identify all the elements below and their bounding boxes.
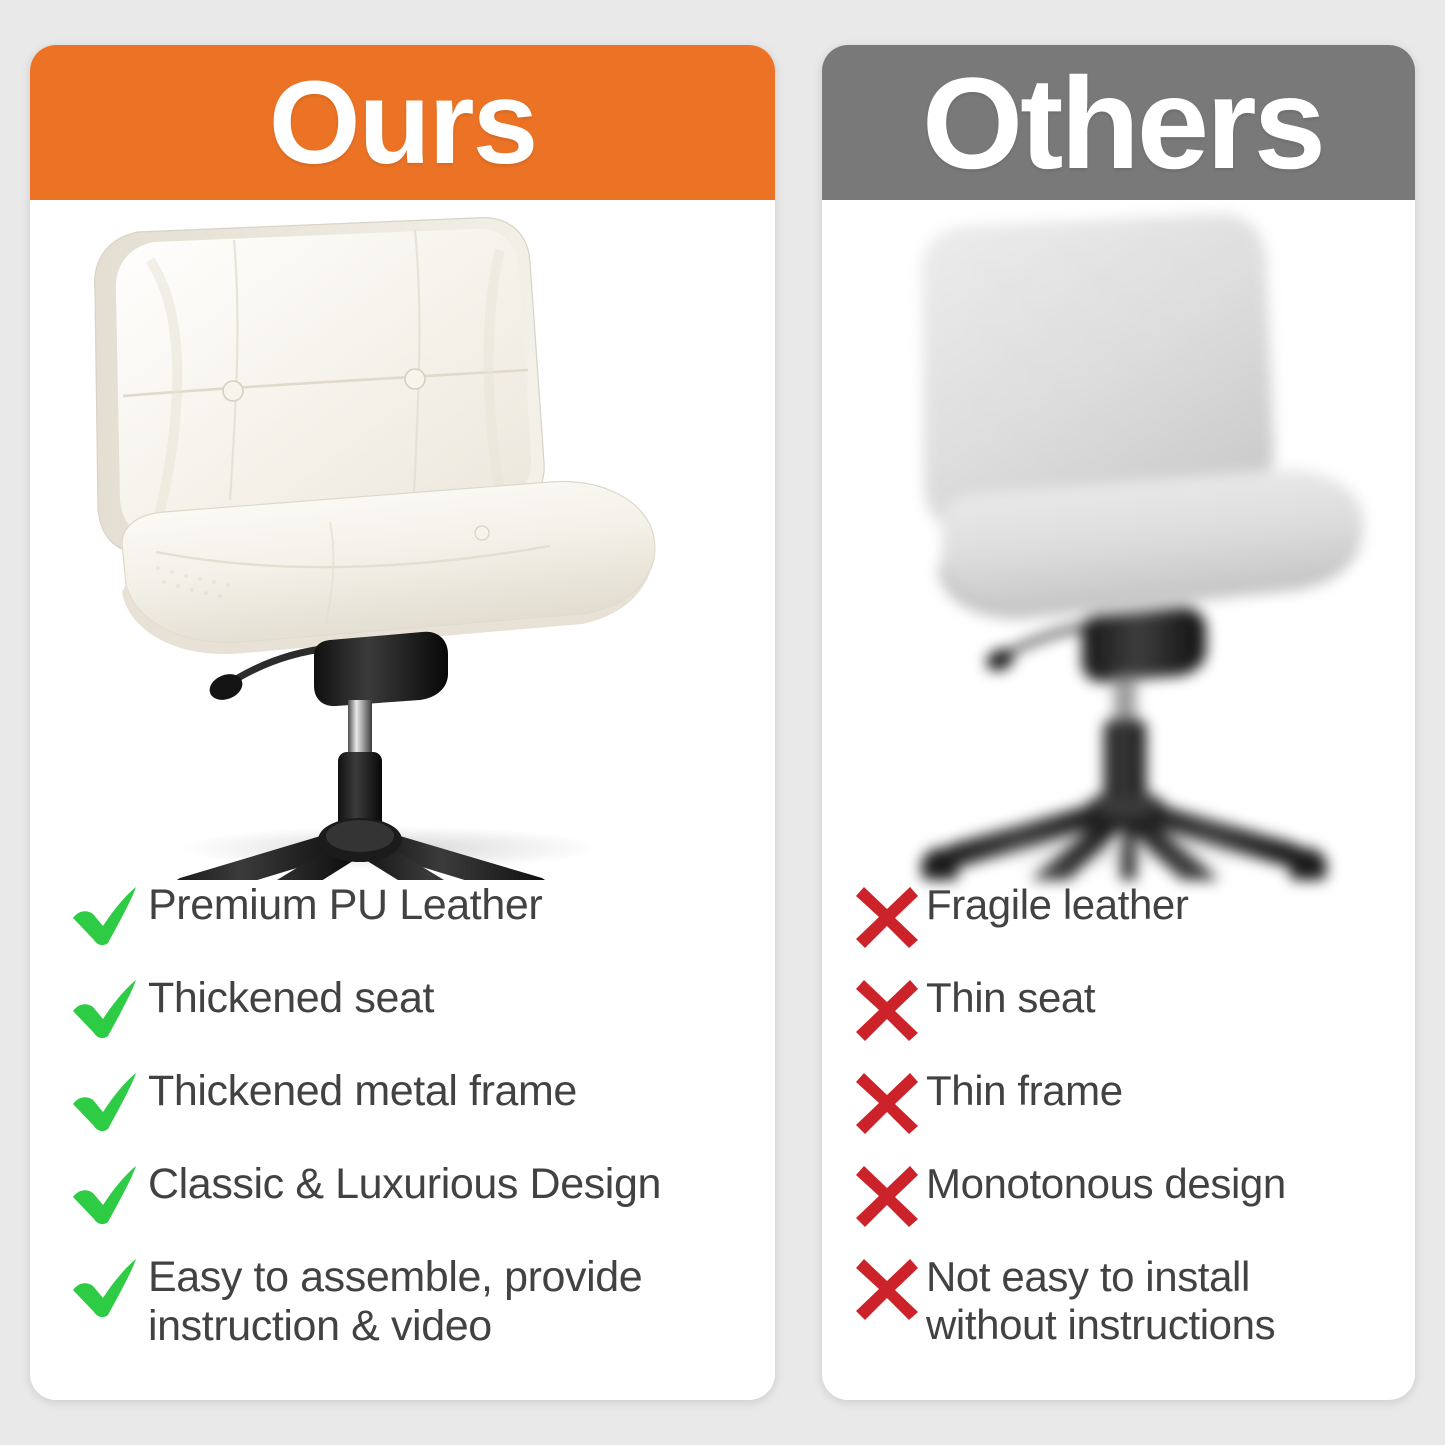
feature-label: Easy to assemble, provide instruction & … [148, 1247, 749, 1351]
ours-product-photo [30, 200, 775, 880]
ours-feature-list: Premium PU Leather Thickened seat Thicke… [30, 875, 775, 1397]
ours-card: Ours [30, 45, 775, 1400]
others-card: Others [822, 45, 1415, 1400]
feature-row: Easy to assemble, provide instruction & … [64, 1247, 749, 1397]
feature-row: Premium PU Leather [64, 875, 749, 968]
cross-mark-icon [848, 1061, 926, 1135]
cross-mark-icon [848, 875, 926, 949]
feature-row: Fragile leather [848, 875, 1389, 968]
feature-label: Classic & Luxurious Design [148, 1154, 661, 1209]
feature-row: Thickened seat [64, 968, 749, 1061]
ours-header-title: Ours [269, 64, 536, 182]
feature-label: Monotonous design [926, 1154, 1286, 1208]
feature-row: Monotonous design [848, 1154, 1389, 1247]
check-mark-icon [64, 968, 148, 1040]
cross-mark-icon [848, 1247, 926, 1321]
ours-chair-illustration [30, 200, 775, 880]
feature-row: Thin seat [848, 968, 1389, 1061]
feature-label: Thickened seat [148, 968, 434, 1023]
others-product-photo [822, 200, 1415, 880]
feature-label: Not easy to install without instructions [926, 1247, 1389, 1349]
feature-label: Fragile leather [926, 875, 1188, 929]
feature-row: Thickened metal frame [64, 1061, 749, 1154]
ours-header-banner: Ours [30, 45, 775, 200]
check-mark-icon [64, 1061, 148, 1133]
others-feature-list: Fragile leather Thin seat Thin frame [822, 875, 1415, 1397]
feature-row: Classic & Luxurious Design [64, 1154, 749, 1247]
check-mark-icon [64, 875, 148, 947]
feature-row: Not easy to install without instructions [848, 1247, 1389, 1397]
others-chair-illustration [822, 200, 1415, 880]
feature-label: Thickened metal frame [148, 1061, 577, 1116]
feature-row: Thin frame [848, 1061, 1389, 1154]
cross-mark-icon [848, 1154, 926, 1228]
others-header-title: Others [922, 58, 1323, 188]
others-header-banner: Others [822, 45, 1415, 200]
check-mark-icon [64, 1154, 148, 1226]
feature-label: Premium PU Leather [148, 875, 542, 930]
comparison-infographic: Ours [0, 0, 1445, 1445]
feature-label: Thin frame [926, 1061, 1123, 1115]
feature-label: Thin seat [926, 968, 1095, 1022]
cross-mark-icon [848, 968, 926, 1042]
check-mark-icon [64, 1247, 148, 1319]
